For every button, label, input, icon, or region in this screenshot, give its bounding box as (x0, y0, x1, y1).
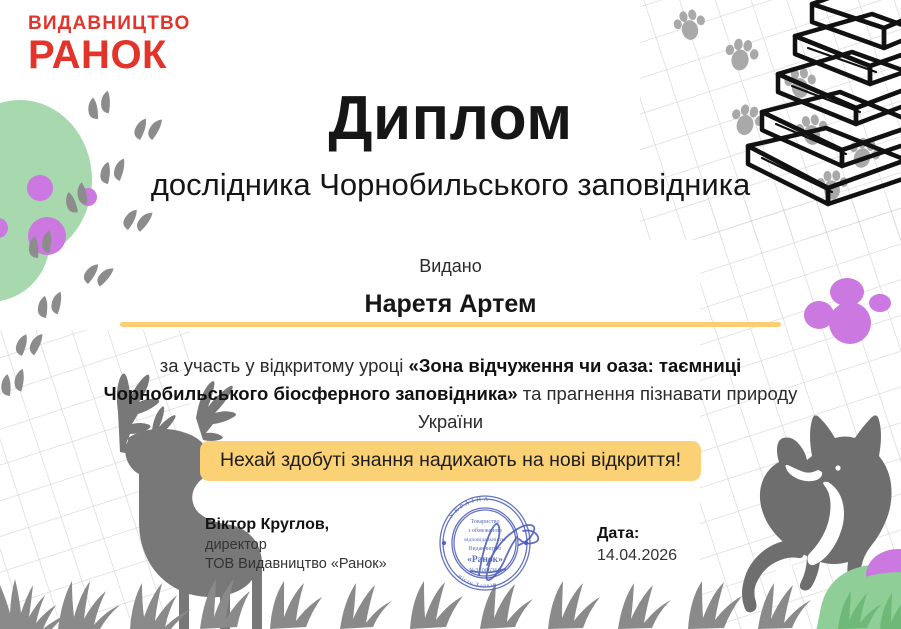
signatory-role: директор (205, 536, 455, 556)
wish-container: Нехай здобуті знання надихають на нові в… (0, 441, 901, 481)
signatory-organization: ТОВ Видавництво «Ранок» (205, 555, 455, 575)
logo-line-2: РАНОК (28, 35, 190, 75)
date-label: Дата: (597, 523, 677, 545)
recipient-name: Наретя Артем (0, 290, 901, 319)
issued-label: Видано (0, 256, 901, 277)
date-value: 14.04.2026 (597, 545, 677, 567)
body-prefix: за участь у відкритому уроці (160, 355, 409, 376)
certificate-content: Диплом дослідника Чорнобильського запові… (0, 0, 901, 629)
publisher-logo: ВИДАВНИЦТВО РАНОК (28, 14, 190, 75)
achievement-description: за участь у відкритому уроці «Зона відчу… (100, 352, 801, 436)
signature-block: Віктор Круглов, директор ТОВ Видавництво… (205, 514, 455, 575)
page-title: Диплом (0, 88, 901, 150)
signatory-name: Віктор Круглов, (205, 514, 455, 536)
date-block: Дата: 14.04.2026 (597, 523, 677, 568)
certificate-subtitle: дослідника Чорнобильського заповідника (120, 166, 781, 204)
certificate-page: ВИДАВНИЦТВО РАНОК Диплом дослідника Чорн… (0, 0, 901, 629)
gold-divider (120, 322, 781, 327)
logo-line-1: ВИДАВНИЦТВО (28, 14, 190, 33)
wish-banner: Нехай здобуті знання надихають на нові в… (200, 441, 701, 481)
